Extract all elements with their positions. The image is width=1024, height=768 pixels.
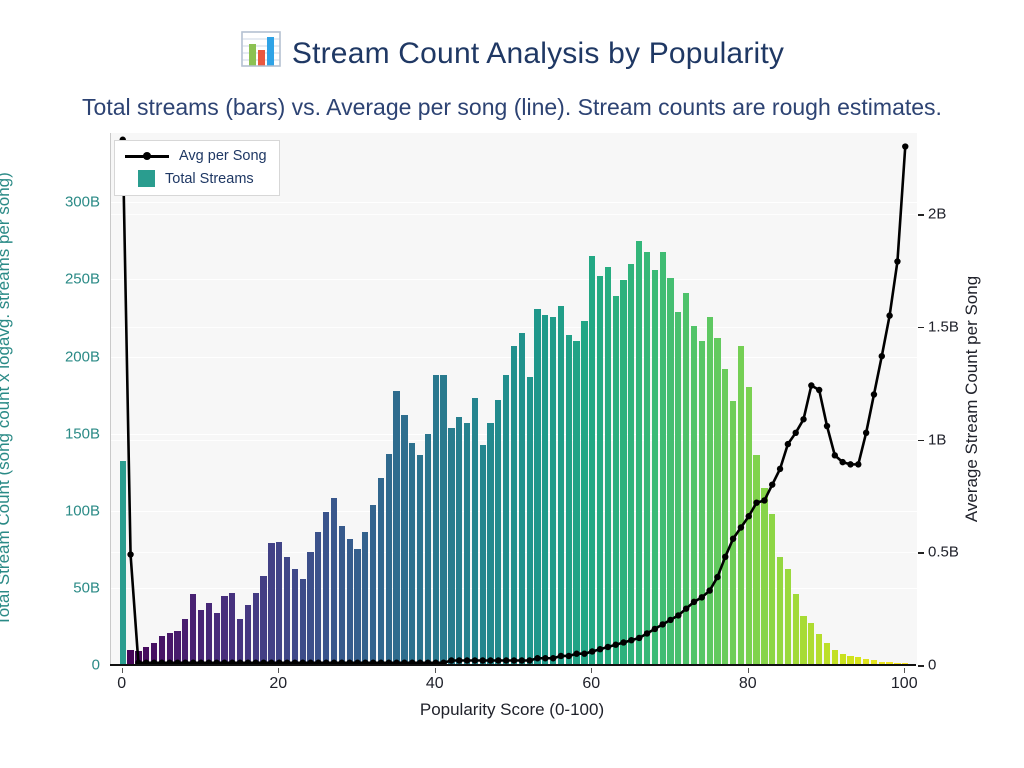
legend-label-avg-per-song: Avg per Song — [179, 148, 267, 164]
line-data-point — [855, 461, 861, 467]
line-data-point — [714, 574, 720, 580]
legend-label-total-streams: Total Streams — [165, 171, 254, 187]
bar-chart-icon — [240, 30, 282, 68]
x-axis-tick-label: 60 — [582, 675, 600, 693]
x-axis-tick-mark — [591, 668, 592, 673]
y-axis-right-tick-label: 0 — [928, 657, 936, 674]
x-axis-tick-label: 0 — [117, 675, 126, 693]
y-axis-right-tick-mark — [918, 552, 924, 554]
line-data-point — [613, 642, 619, 648]
x-axis-line — [110, 664, 916, 666]
line-data-point — [699, 594, 705, 600]
line-data-point — [628, 637, 634, 643]
line-data-point — [730, 536, 736, 542]
legend-item-avg-per-song[interactable]: Avg per Song — [125, 148, 267, 164]
line-data-point — [589, 648, 595, 654]
y-axis-left-label: Total Stream Count (song count x logavg.… — [0, 133, 14, 665]
line-data-point — [691, 599, 697, 605]
line-data-point — [793, 430, 799, 436]
line-data-point — [573, 651, 579, 657]
line-data-point — [534, 655, 540, 661]
line-data-point — [785, 441, 791, 447]
y-axis-right-tick-label: 1.5B — [928, 318, 959, 335]
line-data-point — [683, 605, 689, 611]
line-data-point — [480, 657, 486, 663]
y-axis-right-tick-mark — [918, 440, 924, 442]
avg-per-song-line — [111, 133, 917, 665]
legend: Avg per Song Total Streams — [114, 140, 280, 196]
x-axis-tick-mark — [435, 668, 436, 673]
x-axis-tick-label: 80 — [739, 675, 757, 693]
x-axis-tick-mark — [122, 668, 123, 673]
line-data-point — [495, 657, 501, 663]
line-data-point — [902, 143, 908, 149]
line-data-point — [464, 657, 470, 663]
x-axis-label: Popularity Score (0-100) — [0, 700, 1024, 720]
line-data-point — [542, 655, 548, 661]
y-axis-right-tick-mark — [918, 214, 924, 216]
line-data-point — [620, 639, 626, 645]
y-axis-left-tick-label: 300B — [65, 194, 100, 211]
y-axis-right-tick-label: 1B — [928, 431, 946, 448]
y-axis-right-tick-label: 2B — [928, 206, 946, 223]
page-title: Stream Count Analysis by Popularity — [0, 30, 1024, 71]
avg-per-song-path — [123, 140, 906, 663]
line-data-point — [746, 513, 752, 519]
legend-item-total-streams[interactable]: Total Streams — [125, 170, 267, 187]
y-axis-right-tick-label: 0.5B — [928, 544, 959, 561]
y-axis-left-tick-label: 150B — [65, 425, 100, 442]
line-marker-icon — [125, 150, 169, 162]
line-data-point — [839, 459, 845, 465]
line-data-point — [847, 461, 853, 467]
line-data-point — [659, 621, 665, 627]
y-axis-right-tick-mark — [918, 327, 924, 329]
x-axis-tick-label: 20 — [269, 675, 287, 693]
line-data-point — [636, 635, 642, 641]
line-data-point — [722, 554, 728, 560]
line-data-point — [761, 497, 767, 503]
line-data-point — [667, 617, 673, 623]
square-swatch-icon — [138, 170, 155, 187]
line-data-point — [597, 646, 603, 652]
line-data-point — [472, 657, 478, 663]
x-axis-tick-mark — [904, 668, 905, 673]
line-data-point — [503, 657, 509, 663]
line-data-point — [886, 312, 892, 318]
chart-subtitle: Total streams (bars) vs. Average per son… — [0, 94, 1024, 121]
line-data-point — [127, 551, 133, 557]
line-data-point — [566, 653, 572, 659]
x-axis-tick-label: 100 — [891, 675, 918, 693]
x-axis-tick-label: 40 — [426, 675, 444, 693]
y-axis-right-tick-mark — [918, 665, 924, 667]
x-axis-tick-mark — [278, 668, 279, 673]
line-data-point — [753, 499, 759, 505]
line-data-point — [769, 481, 775, 487]
line-data-point — [738, 524, 744, 530]
line-data-point — [456, 657, 462, 663]
line-data-point — [511, 657, 517, 663]
y-axis-left-tick-label: 100B — [65, 502, 100, 519]
page-title-text: Stream Count Analysis by Popularity — [292, 37, 784, 70]
line-data-point — [526, 657, 532, 663]
line-data-point — [558, 653, 564, 659]
line-data-point — [879, 353, 885, 359]
line-data-point — [487, 657, 493, 663]
y-axis-left-tick-label: 200B — [65, 348, 100, 365]
line-data-point — [581, 651, 587, 657]
y-axis-left-tick-label: 50B — [73, 579, 100, 596]
line-data-point — [448, 657, 454, 663]
line-data-point — [816, 387, 822, 393]
line-data-point — [863, 430, 869, 436]
plot-area — [110, 133, 917, 665]
line-data-point — [824, 423, 830, 429]
line-data-point — [894, 258, 900, 264]
x-axis-tick-mark — [748, 668, 749, 673]
line-data-point — [652, 626, 658, 632]
line-data-point — [777, 466, 783, 472]
line-data-point — [675, 612, 681, 618]
line-data-point — [605, 644, 611, 650]
line-data-point — [519, 657, 525, 663]
line-data-point — [871, 391, 877, 397]
line-data-point — [550, 655, 556, 661]
line-data-point — [706, 587, 712, 593]
line-data-point — [832, 452, 838, 458]
line-data-point — [800, 416, 806, 422]
y-axis-left-tick-label: 250B — [65, 271, 100, 288]
line-data-point — [644, 630, 650, 636]
line-data-point — [808, 382, 814, 388]
y-axis-right-label: Average Stream Count per Song — [962, 133, 982, 665]
y-axis-left-tick-label: 0 — [92, 657, 100, 674]
